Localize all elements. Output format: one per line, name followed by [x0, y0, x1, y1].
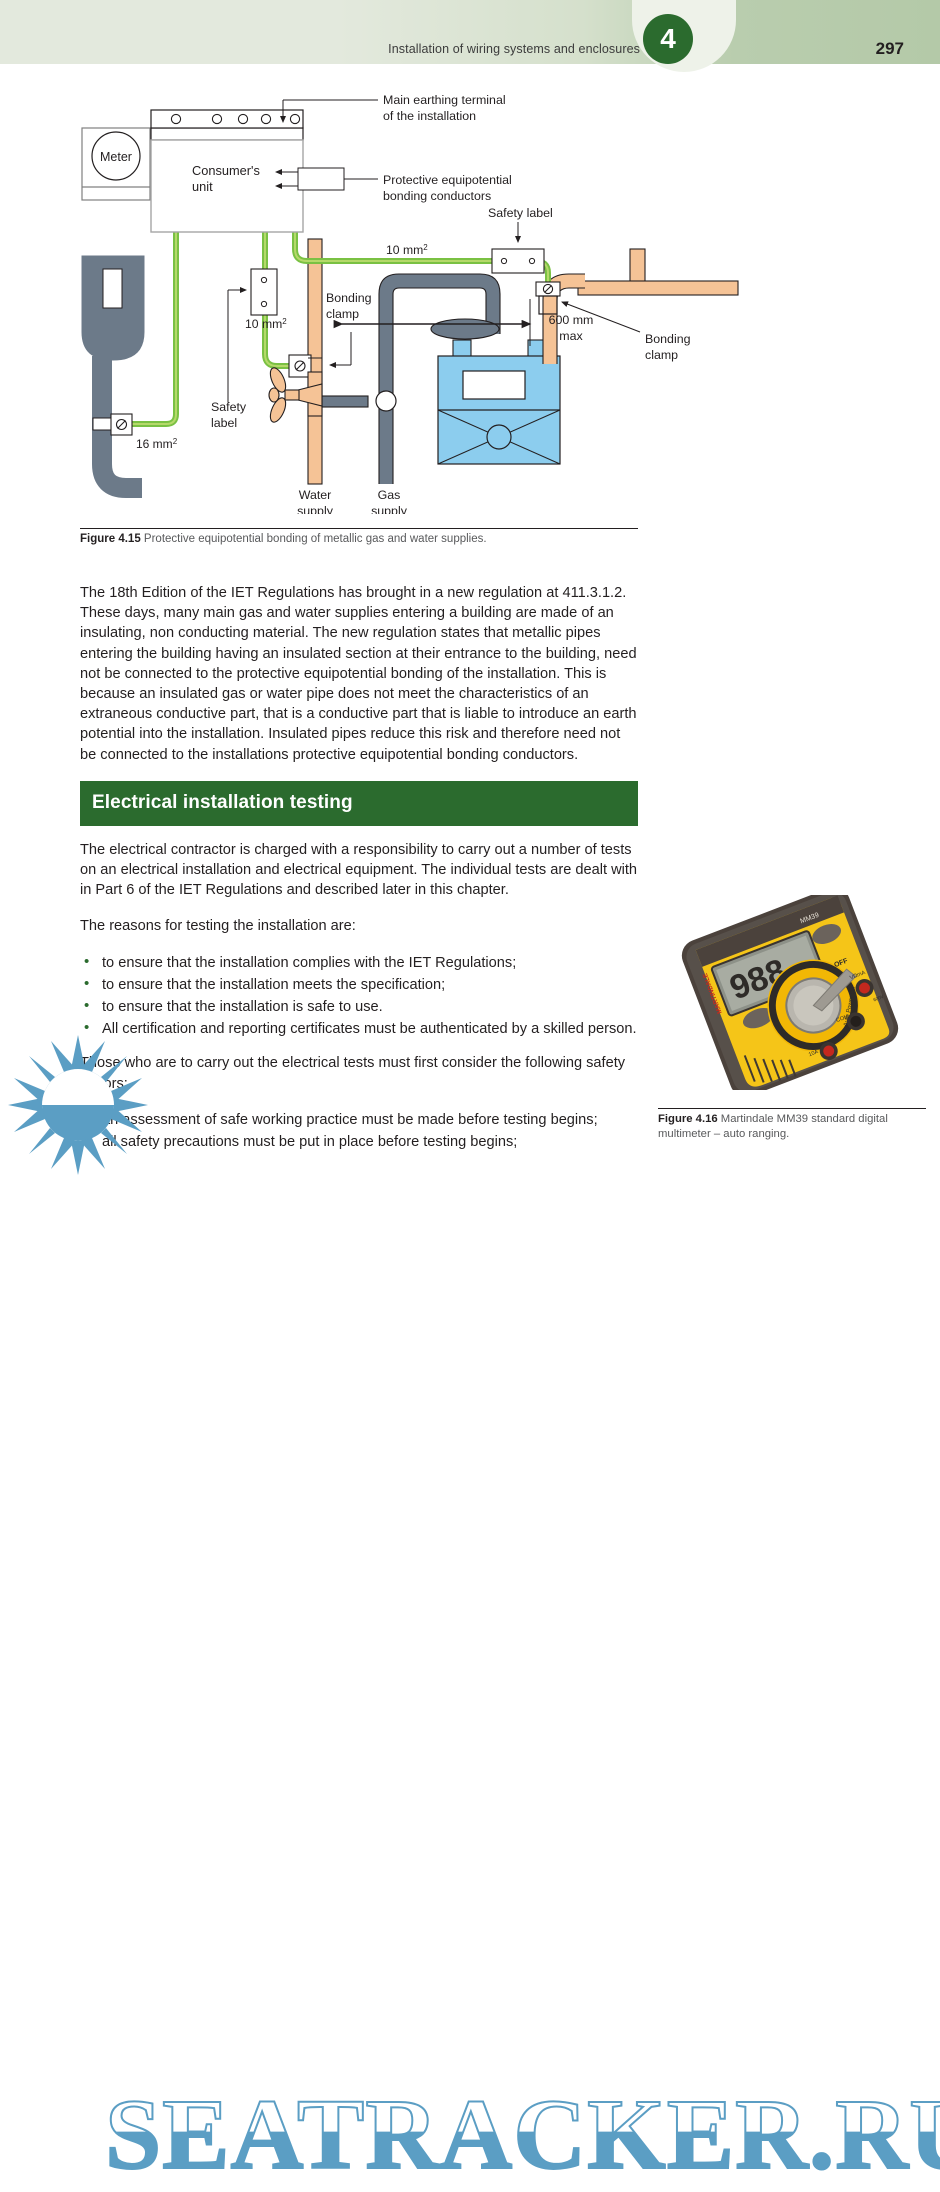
cu-terminal-2	[212, 114, 221, 123]
paragraph-3: The reasons for testing the installation…	[80, 916, 638, 936]
consumers-unit: Consumer's unit	[151, 110, 303, 232]
label-bonding-clamp-right-l2: clamp	[645, 348, 678, 362]
label-safety-label-left-l2: label	[211, 416, 237, 430]
label-gas-supply-l1: Gas	[378, 488, 401, 502]
label-protective-bonding-l2: bonding conductors	[383, 189, 491, 203]
label-water-supply-l1: Water	[299, 488, 332, 502]
dimension-600mm	[342, 299, 530, 346]
figure-4-15-caption: Figure 4.15 Protective equipotential bon…	[80, 532, 650, 547]
figure-4-15-rule	[80, 528, 638, 529]
right-water-pipe-network	[543, 249, 738, 364]
label-csa-10mm-left: 10 mm2	[245, 317, 287, 332]
cu-terminal-3	[238, 114, 247, 123]
safety-label-top	[492, 249, 544, 273]
figure-4-16-caption: Figure 4.16 Martindale MM39 standard dig…	[658, 1112, 930, 1141]
label-csa-10mm-top: 10 mm2	[386, 243, 428, 258]
paragraph-4: Those who are to carry out the electrica…	[80, 1053, 638, 1093]
body-column: The 18th Edition of the IET Regulations …	[80, 583, 638, 1166]
watermark-text-outline: SEATRACKER.RU	[105, 2076, 940, 2192]
label-main-earthing-terminal-l1: Main earthing terminal	[383, 93, 506, 107]
electricity-meter: Meter	[82, 128, 150, 200]
figure-4-16-rule	[658, 1108, 926, 1109]
bullet-list-reasons-for-testing: to ensure that the installation complies…	[80, 953, 638, 1040]
page-number: 297	[876, 39, 904, 59]
figure-4-15-diagram: Meter 16 mm2 Consumer's unit	[80, 84, 740, 514]
cu-terminal-4	[261, 114, 270, 123]
figure-4-16-multimeter-photo: MM39 988 MARTINDALE OFF Auto Power Off V…	[655, 895, 925, 1090]
meter-label: Meter	[100, 150, 132, 164]
consumers-unit-label-line1: Consumer's	[192, 163, 260, 178]
list-item: to ensure that the installation meets th…	[80, 975, 638, 995]
chapter-number-badge: 4	[643, 14, 693, 64]
running-head: Installation of wiring systems and enclo…	[388, 42, 640, 56]
label-main-earthing-terminal-l2: of the installation	[383, 109, 476, 123]
page-header: Installation of wiring systems and enclo…	[0, 0, 940, 64]
list-item: all safety precautions must be put in pl…	[80, 1132, 638, 1152]
consumers-unit-label-line2: unit	[192, 179, 213, 194]
bonding-clamp-service-head	[111, 414, 132, 435]
service-head-cutout: 16 mm2	[82, 256, 178, 488]
paragraph-2: The electrical contractor is charged wit…	[80, 840, 638, 901]
bullet-list-safety-factors: an assessment of safe working practice m…	[80, 1110, 638, 1152]
figure-4-15-caption-label: Figure 4.15	[80, 533, 141, 545]
safety-label-left	[251, 269, 277, 315]
list-item: All certification and reporting certific…	[80, 1019, 638, 1039]
csa-16mm-label: 16 mm2	[136, 437, 178, 452]
figure-4-15-caption-text: Protective equipotential bonding of meta…	[144, 533, 487, 545]
label-water-supply-l2: supply	[297, 504, 334, 514]
list-item: to ensure that the installation is safe …	[80, 997, 638, 1017]
list-item: to ensure that the installation complies…	[80, 953, 638, 973]
label-safety-label-left-l1: Safety	[211, 400, 247, 414]
section-heading-electrical-installation-testing: Electrical installation testing	[80, 781, 638, 826]
label-bonding-clamp-left-l2: clamp	[326, 307, 359, 321]
cu-terminal-5	[290, 114, 299, 123]
label-bonding-clamp-left-l1: Bonding	[326, 291, 372, 305]
gas-meter	[438, 340, 560, 464]
label-bonding-clamp-right-l1: Bonding	[645, 332, 691, 346]
label-protective-bonding-l1: Protective equipotential	[383, 173, 512, 187]
label-600mm-l2: max	[559, 329, 583, 343]
label-safety-label-top: Safety label	[488, 206, 553, 220]
gas-regulator-disc	[431, 319, 499, 339]
list-item: an assessment of safe working practice m…	[80, 1110, 638, 1130]
watermark-text-fill: SEATRACKER.RU	[105, 2076, 940, 2192]
figure-4-16-caption-label: Figure 4.16	[658, 1113, 718, 1125]
label-600mm-l1: 600 mm	[549, 313, 594, 327]
label-gas-supply-l2: supply	[371, 504, 408, 514]
cu-terminal-1	[171, 114, 180, 123]
paragraph-1: The 18th Edition of the IET Regulations …	[80, 583, 638, 765]
